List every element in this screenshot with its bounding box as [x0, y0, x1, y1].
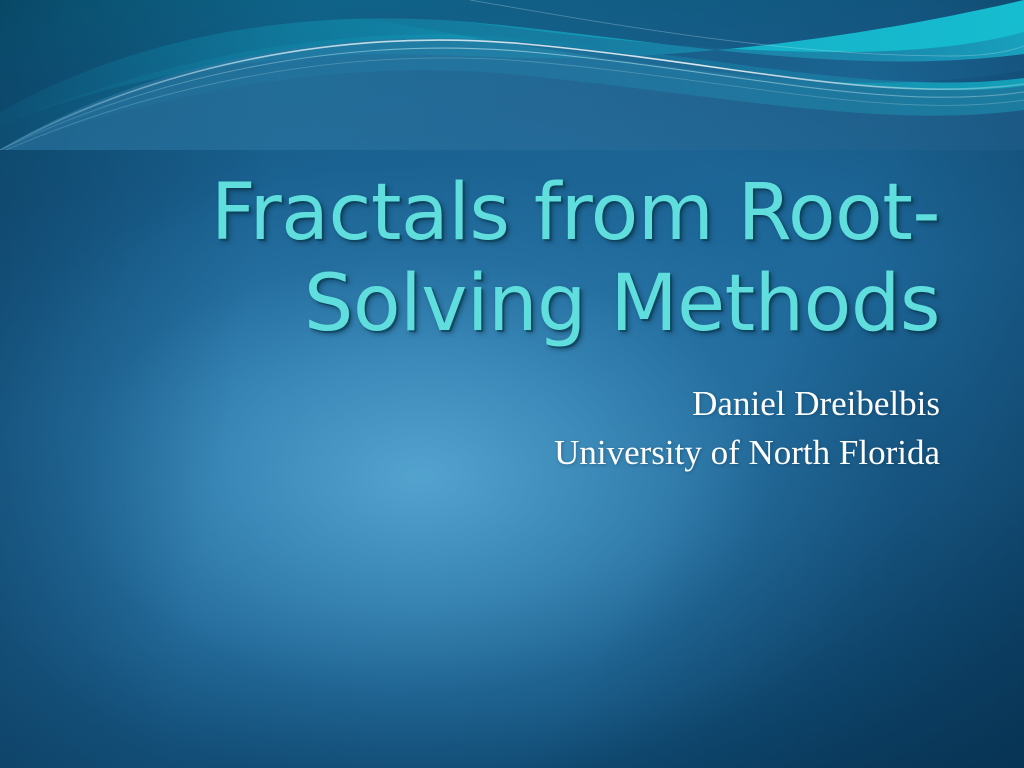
wave-hairline-secondary — [0, 48, 1024, 150]
wave-decoration — [0, 0, 1024, 150]
wave-decoration-svg — [0, 0, 1024, 150]
page-title-line-2: Methods — [610, 259, 940, 349]
wave-band-dark — [300, 0, 1024, 83]
wave-hairline-primary — [0, 40, 1024, 150]
wave-band-teal — [0, 0, 1024, 126]
wave-hairline-upper — [470, 0, 1024, 56]
wave-band-teal-soft — [0, 34, 1024, 150]
title-block: Fractals from Root-Solving Methods Danie… — [60, 168, 940, 478]
wave-hairline-tertiary — [6, 58, 1024, 150]
presentation-slide: Fractals from Root-Solving Methods Danie… — [0, 0, 1024, 768]
subtitle-affiliation: University of North Florida — [60, 428, 940, 478]
subtitle-author: Daniel Dreibelbis — [60, 379, 940, 429]
wave-band-slate — [0, 38, 1024, 150]
subtitle-block: Daniel Dreibelbis University of North Fl… — [60, 379, 940, 478]
page-title: Fractals from Root-Solving Methods — [60, 168, 940, 351]
